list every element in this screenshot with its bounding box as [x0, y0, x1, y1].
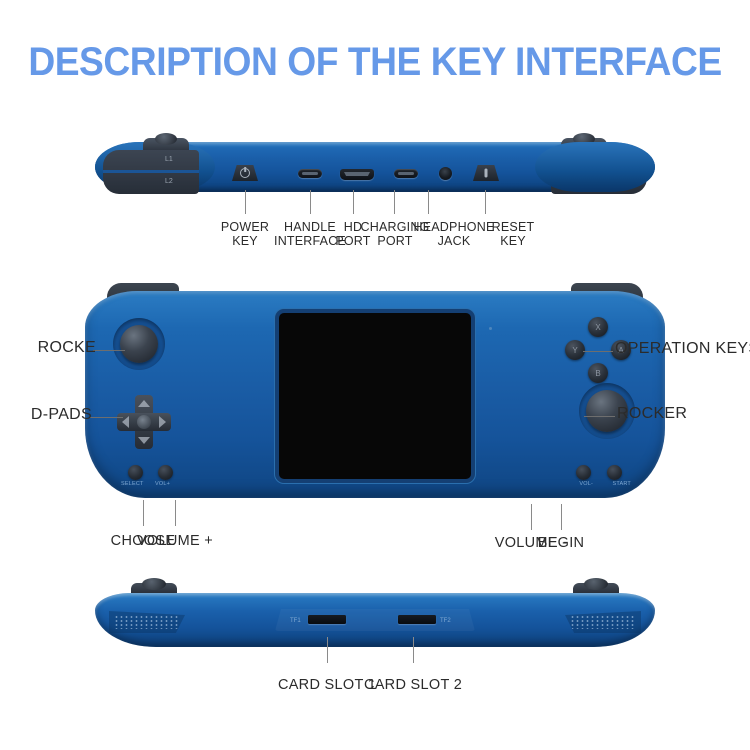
- power-symbol-icon: [240, 168, 250, 178]
- volume-down-button-label: VOL-: [579, 481, 593, 487]
- display-screen[interactable]: [279, 313, 471, 479]
- leader-handle-interface: [310, 190, 311, 214]
- callout-d-pads: D-PADS: [26, 408, 92, 422]
- d-pad-right-icon[interactable]: [159, 416, 166, 428]
- trigger-label-l1: L1: [165, 156, 173, 163]
- d-pad[interactable]: [117, 395, 171, 449]
- callout-headphone-jack: HEADPHONE JACK: [411, 220, 497, 248]
- leader-rocke: [93, 350, 125, 351]
- speaker-holes-pattern: [114, 615, 180, 629]
- callout-operation-keys: OPERATION KEYS: [615, 342, 750, 356]
- d-pad-left-icon[interactable]: [122, 416, 129, 428]
- card-slot-2-mark: TF2: [440, 618, 451, 624]
- left-shoulder-triggers[interactable]: L1 L2: [103, 150, 199, 194]
- select-button-label: SELECT: [121, 481, 144, 487]
- speaker-holes-pattern: [570, 615, 636, 629]
- leader-headphone-jack: [428, 190, 429, 214]
- top-right-stick-silhouette: [561, 138, 607, 152]
- callout-card-slot-2: CARD SLOT 2: [340, 678, 486, 692]
- card-slot-2[interactable]: [398, 615, 436, 624]
- page-title: DESCRIPTION OF THE KEY INTERFACE: [26, 40, 724, 85]
- callout-reset-key-line1: RESET: [486, 220, 540, 234]
- reset-pinhole-icon[interactable]: [473, 165, 499, 181]
- callout-reset-key: RESET KEY: [486, 220, 540, 248]
- leader-reset-key: [485, 190, 486, 214]
- trigger-divider: [103, 170, 199, 173]
- select-button[interactable]: [128, 465, 143, 480]
- device-bottom-edge-body: TF1 TF2: [95, 593, 655, 647]
- button-b[interactable]: B: [588, 363, 608, 383]
- d-pad-down-icon[interactable]: [138, 437, 150, 444]
- top-edge-view: L1 L2 R1 R2: [95, 132, 655, 198]
- callout-left-rocker: ROCKE: [36, 341, 96, 355]
- leader-card-slot-2: [413, 637, 414, 663]
- left-speaker-grille: [109, 611, 185, 633]
- card-slot-1[interactable]: [308, 615, 346, 624]
- leader-rocker: [584, 416, 615, 417]
- callout-headphone-jack-line1: HEADPHONE: [411, 220, 497, 234]
- volume-up-button-label: VOL+: [155, 481, 170, 487]
- charging-port-icon[interactable]: [394, 169, 418, 178]
- indicator-led-icon: [489, 327, 492, 330]
- left-rocker-stick[interactable]: [113, 318, 165, 370]
- callout-right-rocker: ROCKER: [617, 407, 687, 421]
- front-view: X Y A B SELECT VOL+ VOL- START: [85, 283, 665, 498]
- card-slot-1-mark: TF1: [290, 618, 301, 624]
- right-shoulder-triggers[interactable]: R1 R2: [551, 150, 647, 194]
- leader-card-slot-1: [327, 637, 328, 663]
- leader-power-key: [245, 190, 246, 214]
- callout-reset-key-line2: KEY: [486, 234, 540, 248]
- usb-c-port-icon[interactable]: [298, 169, 322, 178]
- leader-volume-down: [531, 504, 532, 530]
- start-button[interactable]: [607, 465, 622, 480]
- volume-down-button[interactable]: [576, 465, 591, 480]
- callout-begin: BEGIN: [533, 536, 589, 550]
- bottom-edge-view: TF1 TF2: [95, 585, 655, 655]
- callout-volume-up: VOLUME +: [124, 534, 226, 548]
- headphone-jack-icon[interactable]: [439, 167, 452, 180]
- leader-hd-port: [353, 190, 354, 214]
- key-interface-diagram: DESCRIPTION OF THE KEY INTERFACE L1 L2 R…: [0, 0, 750, 750]
- leader-begin: [561, 504, 562, 530]
- reset-pin-symbol-icon: [485, 169, 488, 178]
- callout-headphone-jack-line2: JACK: [411, 234, 497, 248]
- volume-up-button[interactable]: [158, 465, 173, 480]
- leader-charging-port: [394, 190, 395, 214]
- leader-choose: [143, 500, 144, 526]
- right-speaker-grille: [565, 611, 641, 633]
- start-button-label: START: [612, 481, 631, 487]
- button-y[interactable]: Y: [565, 340, 585, 360]
- left-stick-knob[interactable]: [120, 325, 158, 363]
- leader-volume-up: [175, 500, 176, 526]
- device-front-body: X Y A B SELECT VOL+ VOL- START: [85, 291, 665, 498]
- trigger-label-r1: R1: [561, 156, 570, 163]
- hdmi-port-icon[interactable]: [340, 169, 374, 180]
- power-icon[interactable]: [232, 165, 258, 181]
- leader-d-pads: [90, 417, 123, 418]
- trigger-divider: [551, 170, 647, 173]
- device-top-edge-body: L1 L2 R1 R2: [95, 142, 655, 192]
- trigger-label-l2: L2: [165, 178, 173, 185]
- leader-operation-keys: [583, 351, 613, 352]
- d-pad-center-pivot: [137, 415, 151, 429]
- d-pad-up-icon[interactable]: [138, 400, 150, 407]
- trigger-label-r2: R2: [561, 178, 570, 185]
- button-x[interactable]: X: [588, 317, 608, 337]
